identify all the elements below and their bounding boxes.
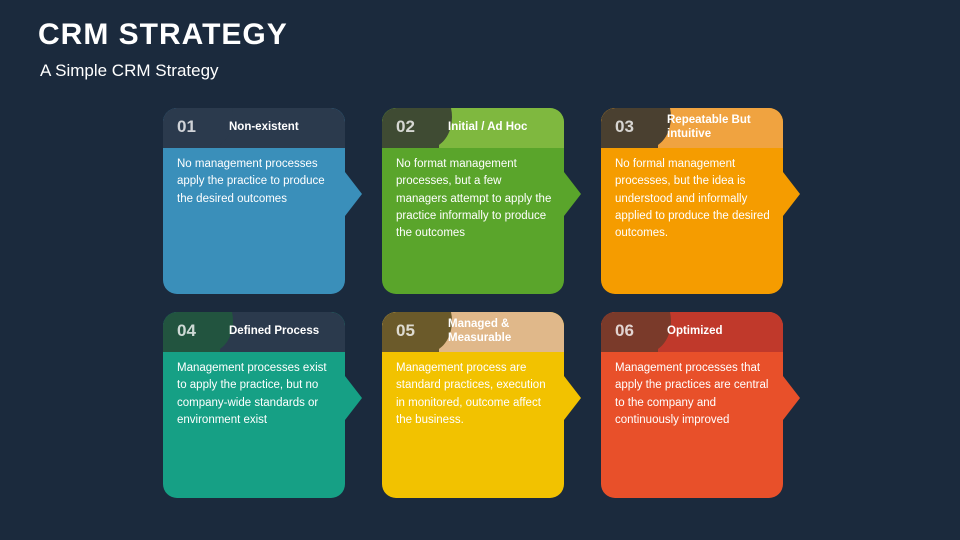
card-arrow-icon <box>783 172 800 216</box>
card-arrow-icon <box>564 172 581 216</box>
card-body: 03 Repeatable But intuitive No formal ma… <box>601 108 783 294</box>
card-label: Managed & Measurable <box>448 312 562 352</box>
card-label: Non-existent <box>229 108 343 148</box>
card-body: 02 Initial / Ad Hoc No format management… <box>382 108 564 294</box>
card-02[interactable]: 02 Initial / Ad Hoc No format management… <box>382 108 564 294</box>
slide-canvas: CRM STRATEGY A Simple CRM Strategy 01 No… <box>0 0 960 540</box>
card-number: 01 <box>177 117 196 137</box>
card-description: No formal management processes, but the … <box>615 156 771 242</box>
card-03[interactable]: 03 Repeatable But intuitive No formal ma… <box>601 108 783 294</box>
card-05[interactable]: 05 Managed & Measurable Management proce… <box>382 312 564 498</box>
card-arrow-icon <box>783 376 800 420</box>
cards-grid: 01 Non-existent No management processes … <box>163 108 803 498</box>
card-label: Optimized <box>667 312 781 352</box>
card-body: 06 Optimized Management processes that a… <box>601 312 783 498</box>
page-subtitle: A Simple CRM Strategy <box>40 61 219 81</box>
card-description: Management processes exist to apply the … <box>177 360 333 429</box>
card-number: 06 <box>615 321 634 341</box>
card-number: 05 <box>396 321 415 341</box>
card-arrow-icon <box>345 376 362 420</box>
card-arrow-icon <box>564 376 581 420</box>
card-label: Repeatable But intuitive <box>667 108 781 148</box>
card-label: Defined Process <box>229 312 343 352</box>
card-number: 04 <box>177 321 196 341</box>
card-body: 01 Non-existent No management processes … <box>163 108 345 294</box>
card-06[interactable]: 06 Optimized Management processes that a… <box>601 312 783 498</box>
card-description: No management processes apply the practi… <box>177 156 333 208</box>
card-number: 02 <box>396 117 415 137</box>
card-label: Initial / Ad Hoc <box>448 108 562 148</box>
card-01[interactable]: 01 Non-existent No management processes … <box>163 108 345 294</box>
page-title: CRM STRATEGY <box>38 18 288 52</box>
card-arrow-icon <box>345 172 362 216</box>
card-number: 03 <box>615 117 634 137</box>
card-description: Management process are standard practice… <box>396 360 552 429</box>
card-description: No format management processes, but a fe… <box>396 156 552 242</box>
card-body: 04 Defined Process Management processes … <box>163 312 345 498</box>
card-04[interactable]: 04 Defined Process Management processes … <box>163 312 345 498</box>
card-description: Management processes that apply the prac… <box>615 360 771 429</box>
card-body: 05 Managed & Measurable Management proce… <box>382 312 564 498</box>
